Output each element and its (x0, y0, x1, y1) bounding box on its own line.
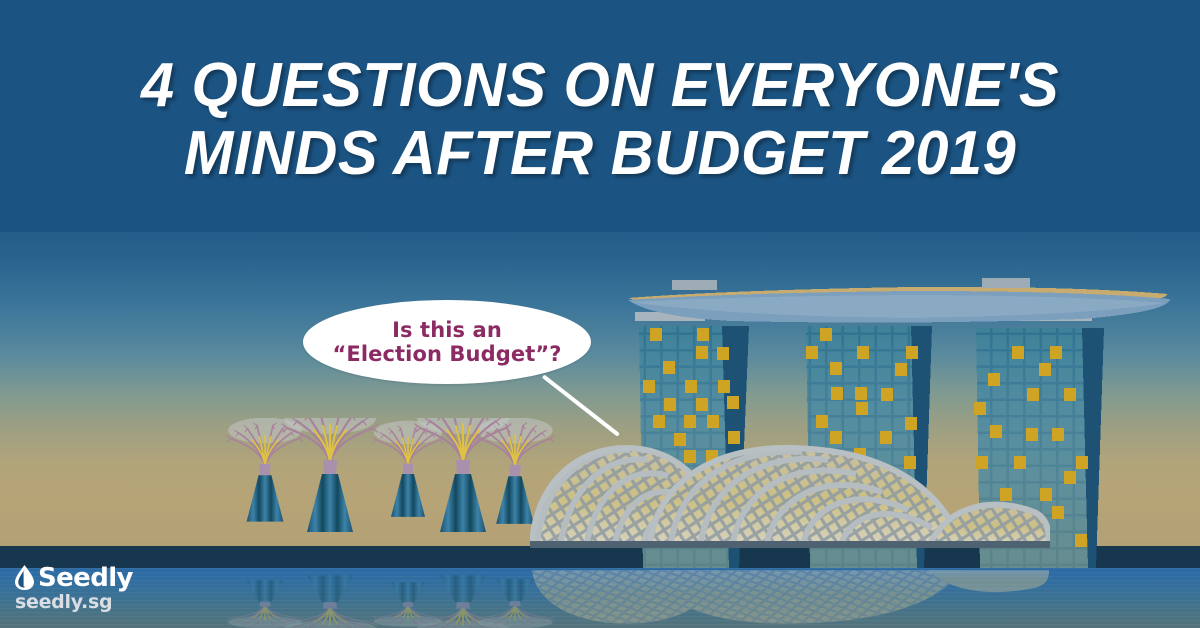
speech-bubble-line-1: Is this an (392, 318, 502, 342)
dome-reflection (530, 568, 1050, 628)
conservatory-domes (530, 440, 1050, 548)
dome-center (640, 440, 970, 548)
mbs-skypark (628, 278, 1170, 323)
headline-line-1: 4 QUESTIONS ON EVERYONE'S (24, 52, 1176, 120)
seedly-branding[interactable]: Seedly seedly.sg (14, 564, 133, 612)
speech-bubble-body: Is this an “Election Budget”? (303, 300, 591, 384)
seed-droplet-icon (14, 564, 35, 591)
seedly-logo-row[interactable]: Seedly (14, 564, 133, 591)
supertree-5 (372, 421, 443, 517)
page-title: 4 QUESTIONS ON EVERYONE'S MINDS AFTER BU… (24, 52, 1176, 188)
banner-image: 4 QUESTIONS ON EVERYONE'S MINDS AFTER BU… (0, 0, 1200, 628)
speech-bubble-line-2: “Election Budget”? (332, 342, 561, 366)
speech-bubble: Is this an “Election Budget”? (303, 300, 591, 384)
seedly-wordmark: Seedly (38, 565, 133, 591)
supertree-3 (227, 418, 304, 522)
supertree-grove (215, 418, 575, 548)
headline-line-2: MINDS AFTER BUDGET 2019 (24, 120, 1176, 188)
supertree-reflection (215, 568, 575, 628)
seedly-url: seedly.sg (15, 592, 133, 612)
